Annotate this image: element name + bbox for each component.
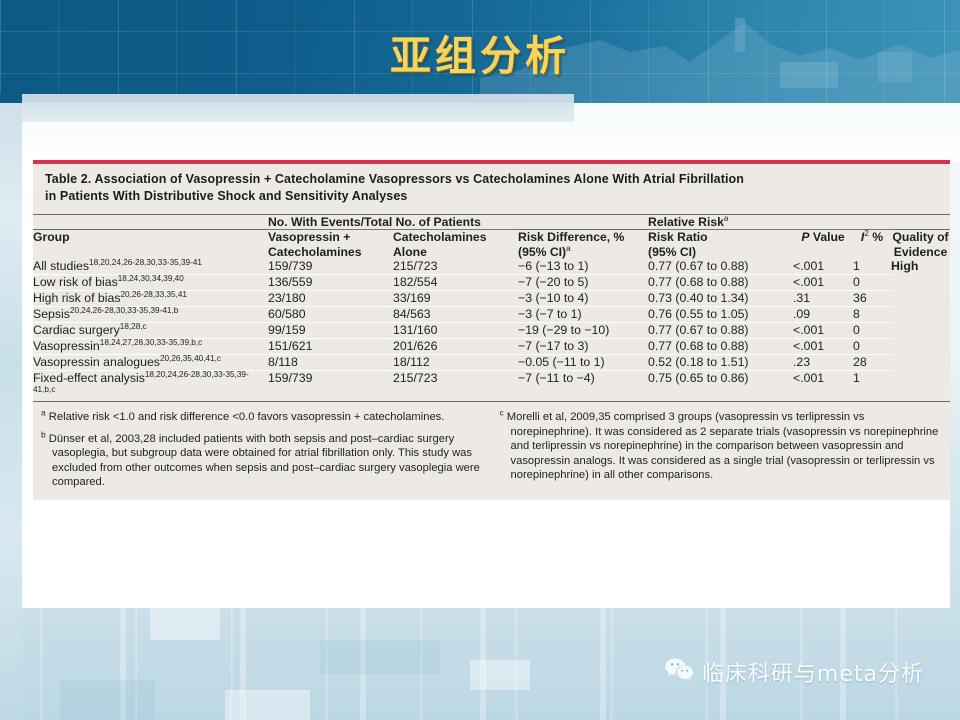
cell-group: Vasopressin analogues20,26,35,40,41,c bbox=[33, 355, 268, 371]
vc-line2: Catecholamines bbox=[268, 245, 361, 259]
group-label: Vasopressin bbox=[33, 339, 100, 353]
cell-i2: 0 bbox=[853, 275, 891, 291]
cell-cat-alone: 182/554 bbox=[393, 275, 518, 291]
footnote-a: a Relative risk <1.0 and risk difference… bbox=[41, 410, 482, 425]
cell-risk-diff: −6 (−13 to 1) bbox=[518, 259, 648, 275]
ca-line1: Catecholamines bbox=[393, 230, 486, 244]
cell-risk-ratio: 0.77 (0.68 to 0.88) bbox=[648, 339, 793, 355]
cell-risk-diff: −0.05 (−11 to 1) bbox=[518, 355, 648, 371]
bg-block bbox=[320, 640, 440, 674]
group-refs: 20,24,26-28,30,33-35,39-41,b bbox=[70, 306, 178, 315]
table-caption: Table 2. Association of Vasopressin + Ca… bbox=[33, 164, 950, 214]
footnote-b-text: Dünser et al, 2003,28 included patients … bbox=[49, 433, 480, 489]
column-header-quality-of-evidence: Quality of Evidence bbox=[891, 230, 950, 260]
cell-cat-alone: 131/160 bbox=[393, 323, 518, 339]
qoe-line1: Quality of bbox=[892, 230, 948, 244]
i2-percent: % bbox=[869, 230, 883, 244]
cell-risk-diff: −3 (−7 to 1) bbox=[518, 307, 648, 323]
table-panel: Table 2. Association of Vasopressin + Ca… bbox=[22, 150, 950, 608]
cell-p-value: .31 bbox=[793, 291, 853, 307]
group-refs: 18,24,30,34,39,40 bbox=[118, 274, 184, 283]
rr-line1: Risk Ratio bbox=[648, 230, 708, 244]
rr-line2: (95% CI) bbox=[648, 245, 696, 259]
table-row: All studies18,20,24,26-28,30,33-35,39-41… bbox=[33, 259, 950, 275]
bg-block bbox=[470, 660, 530, 690]
events-group-header: No. With Events/Total No. of Patients bbox=[268, 215, 518, 230]
relative-risk-group-header: Relative Riska bbox=[648, 215, 891, 230]
group-refs: 18,24,27,28,30,33-35,39,b,c bbox=[100, 338, 202, 347]
watermark-text: 临床科研与meta分析 bbox=[702, 656, 924, 688]
cell-group: All studies18,20,24,26-28,30,33-35,39-41 bbox=[33, 259, 268, 275]
table-row: Cardiac surgery18,28,c 99/159 131/160 −1… bbox=[33, 323, 950, 339]
cell-i2: 0 bbox=[853, 323, 891, 339]
qoe-line2: Evidence bbox=[894, 245, 948, 259]
table-group-header-row: No. With Events/Total No. of Patients Re… bbox=[33, 215, 950, 230]
cell-risk-diff: −7 (−20 to 5) bbox=[518, 275, 648, 291]
cell-vaso-cat: 159/739 bbox=[268, 371, 393, 402]
cell-vaso-cat: 159/739 bbox=[268, 259, 393, 275]
cell-risk-ratio: 0.77 (0.67 to 0.88) bbox=[648, 259, 793, 275]
risk-difference-spacer bbox=[518, 215, 648, 230]
table-row: Vasopressin18,24,27,28,30,33-35,39,b,c 1… bbox=[33, 339, 950, 355]
cell-group: Cardiac surgery18,28,c bbox=[33, 323, 268, 339]
cell-risk-ratio: 0.52 (0.18 to 1.51) bbox=[648, 355, 793, 371]
cell-cat-alone: 201/626 bbox=[393, 339, 518, 355]
cell-risk-ratio: 0.77 (0.68 to 0.88) bbox=[648, 275, 793, 291]
cell-cat-alone: 215/723 bbox=[393, 371, 518, 402]
cell-risk-diff: −7 (−11 to −4) bbox=[518, 371, 648, 402]
cell-vaso-cat: 60/580 bbox=[268, 307, 393, 323]
group-refs: 20,26-28,33,35,41 bbox=[120, 290, 186, 299]
cell-group: Fixed-effect analysis18,20,24,26-28,30,3… bbox=[33, 371, 268, 402]
cell-group: Vasopressin18,24,27,28,30,33-35,39,b,c bbox=[33, 339, 268, 355]
group-label: Cardiac surgery bbox=[33, 323, 120, 337]
table-column-header-row: Group Vasopressin + Catecholamines Catec… bbox=[33, 230, 950, 260]
table-row: Low risk of bias18,24,30,34,39,40 136/55… bbox=[33, 275, 950, 291]
bg-block bbox=[60, 680, 155, 720]
rd-line1: Risk Difference, % bbox=[518, 230, 624, 244]
cell-i2: 36 bbox=[853, 291, 891, 307]
group-label: Fixed-effect analysis bbox=[33, 371, 145, 385]
results-table: No. With Events/Total No. of Patients Re… bbox=[33, 214, 950, 401]
cell-cat-alone: 18/112 bbox=[393, 355, 518, 371]
cell-cat-alone: 33/169 bbox=[393, 291, 518, 307]
bg-block bbox=[225, 690, 310, 720]
cell-p-value: .23 bbox=[793, 355, 853, 371]
cell-cat-alone: 84/563 bbox=[393, 307, 518, 323]
cell-vaso-cat: 136/559 bbox=[268, 275, 393, 291]
cell-i2: 8 bbox=[853, 307, 891, 323]
cell-group: Sepsis20,24,26-28,30,33-35,39-41,b bbox=[33, 307, 268, 323]
cell-vaso-cat: 23/180 bbox=[268, 291, 393, 307]
group-label: High risk of bias bbox=[33, 291, 120, 305]
cell-p-value: <.001 bbox=[793, 371, 853, 402]
cell-risk-diff: −19 (−29 to −10) bbox=[518, 323, 648, 339]
cell-p-value: <.001 bbox=[793, 323, 853, 339]
table-row: High risk of bias20,26-28,33,35,41 23/18… bbox=[33, 291, 950, 307]
header-shelf bbox=[22, 94, 574, 122]
watermark: 临床科研与meta分析 bbox=[664, 656, 924, 688]
cell-risk-ratio: 0.73 (0.40 to 1.34) bbox=[648, 291, 793, 307]
table-card: Table 2. Association of Vasopressin + Ca… bbox=[33, 164, 950, 500]
group-label: Sepsis bbox=[33, 307, 70, 321]
p-value-label-rest: Value bbox=[813, 230, 845, 244]
page-title: 亚组分析 bbox=[0, 22, 960, 82]
cell-group: High risk of bias20,26-28,33,35,41 bbox=[33, 291, 268, 307]
relative-risk-footnote-marker: a bbox=[724, 214, 729, 223]
footnote-c: c Morelli et al, 2009,35 comprised 3 gro… bbox=[500, 410, 941, 483]
column-header-risk-ratio: Risk Ratio (95% CI) bbox=[648, 230, 793, 260]
cell-p-value: <.001 bbox=[793, 339, 853, 355]
cell-p-value: <.001 bbox=[793, 259, 853, 275]
group-refs: 18,28,c bbox=[120, 322, 147, 331]
rd-footnote-marker: a bbox=[566, 243, 571, 252]
table-row: Vasopressin analogues20,26,35,40,41,c 8/… bbox=[33, 355, 950, 371]
cell-cat-alone: 215/723 bbox=[393, 259, 518, 275]
table-caption-line-1: Table 2. Association of Vasopressin + Ca… bbox=[45, 171, 938, 188]
cell-vaso-cat: 8/118 bbox=[268, 355, 393, 371]
footnote-b: b Dünser et al, 2003,28 included patient… bbox=[41, 432, 482, 490]
table-body: All studies18,20,24,26-28,30,33-35,39-41… bbox=[33, 259, 950, 401]
group-header-spacer bbox=[33, 215, 268, 230]
cell-i2: 0 bbox=[853, 339, 891, 355]
group-label: All studies bbox=[33, 259, 89, 273]
wechat-icon bbox=[664, 657, 694, 688]
cell-risk-diff: −3 (−10 to 4) bbox=[518, 291, 648, 307]
group-label: Vasopressin analogues bbox=[33, 355, 160, 369]
footnotes-right-column: c Morelli et al, 2009,35 comprised 3 gro… bbox=[500, 410, 941, 490]
group-label: Low risk of bias bbox=[33, 275, 118, 289]
footnotes-left-column: a Relative risk <1.0 and risk difference… bbox=[41, 410, 482, 490]
cell-i2: 28 bbox=[853, 355, 891, 371]
cell-i2: 1 bbox=[853, 259, 891, 275]
footnote-c-text: Morelli et al, 2009,35 comprised 3 group… bbox=[507, 411, 939, 481]
column-header-p-value: P Value bbox=[793, 230, 853, 260]
relative-risk-label: Relative Risk bbox=[648, 215, 724, 229]
column-header-vasopressin-catecholamines: Vasopressin + Catecholamines bbox=[268, 230, 393, 260]
table-row: Sepsis20,24,26-28,30,33-35,39-41,b 60/58… bbox=[33, 307, 950, 323]
vc-line1: Vasopressin + bbox=[268, 230, 350, 244]
table-head: No. With Events/Total No. of Patients Re… bbox=[33, 215, 950, 260]
cell-vaso-cat: 99/159 bbox=[268, 323, 393, 339]
ca-line2: Alone bbox=[393, 245, 427, 259]
cell-p-value: <.001 bbox=[793, 275, 853, 291]
cell-quality-of-evidence: High bbox=[891, 259, 950, 401]
slide: 亚组分析 Table 2. Association of Vasopressin… bbox=[0, 0, 960, 720]
table-row: Fixed-effect analysis18,20,24,26-28,30,3… bbox=[33, 371, 950, 402]
column-header-risk-difference: Risk Difference, % (95% CI)a bbox=[518, 230, 648, 260]
footnote-a-text: Relative risk <1.0 and risk difference <… bbox=[49, 411, 445, 423]
footnote-b-marker: b bbox=[41, 429, 46, 439]
quality-spacer bbox=[891, 215, 950, 230]
group-refs: 18,20,24,26-28,30,33-35,39-41 bbox=[89, 258, 202, 267]
column-header-group: Group bbox=[33, 230, 268, 260]
footnote-a-marker: a bbox=[41, 407, 46, 417]
cell-risk-ratio: 0.77 (0.67 to 0.88) bbox=[648, 323, 793, 339]
cell-risk-diff: −7 (−17 to 3) bbox=[518, 339, 648, 355]
column-header-catecholamines-alone: Catecholamines Alone bbox=[393, 230, 518, 260]
footnote-c-marker: c bbox=[500, 407, 504, 417]
cell-i2: 1 bbox=[853, 371, 891, 402]
cell-vaso-cat: 151/621 bbox=[268, 339, 393, 355]
cell-group: Low risk of bias18,24,30,34,39,40 bbox=[33, 275, 268, 291]
group-refs: 20,26,35,40,41,c bbox=[160, 354, 221, 363]
left-rail bbox=[0, 103, 22, 720]
column-header-i2: I2 % bbox=[853, 230, 891, 260]
cell-risk-ratio: 0.76 (0.55 to 1.05) bbox=[648, 307, 793, 323]
table-footnotes: a Relative risk <1.0 and risk difference… bbox=[33, 401, 950, 500]
cell-p-value: .09 bbox=[793, 307, 853, 323]
rd-line2: (95% CI) bbox=[518, 245, 566, 259]
wechat-icon-svg bbox=[664, 657, 694, 683]
cell-risk-ratio: 0.75 (0.65 to 0.86) bbox=[648, 371, 793, 402]
table-caption-line-2: in Patients With Distributive Shock and … bbox=[45, 188, 938, 205]
